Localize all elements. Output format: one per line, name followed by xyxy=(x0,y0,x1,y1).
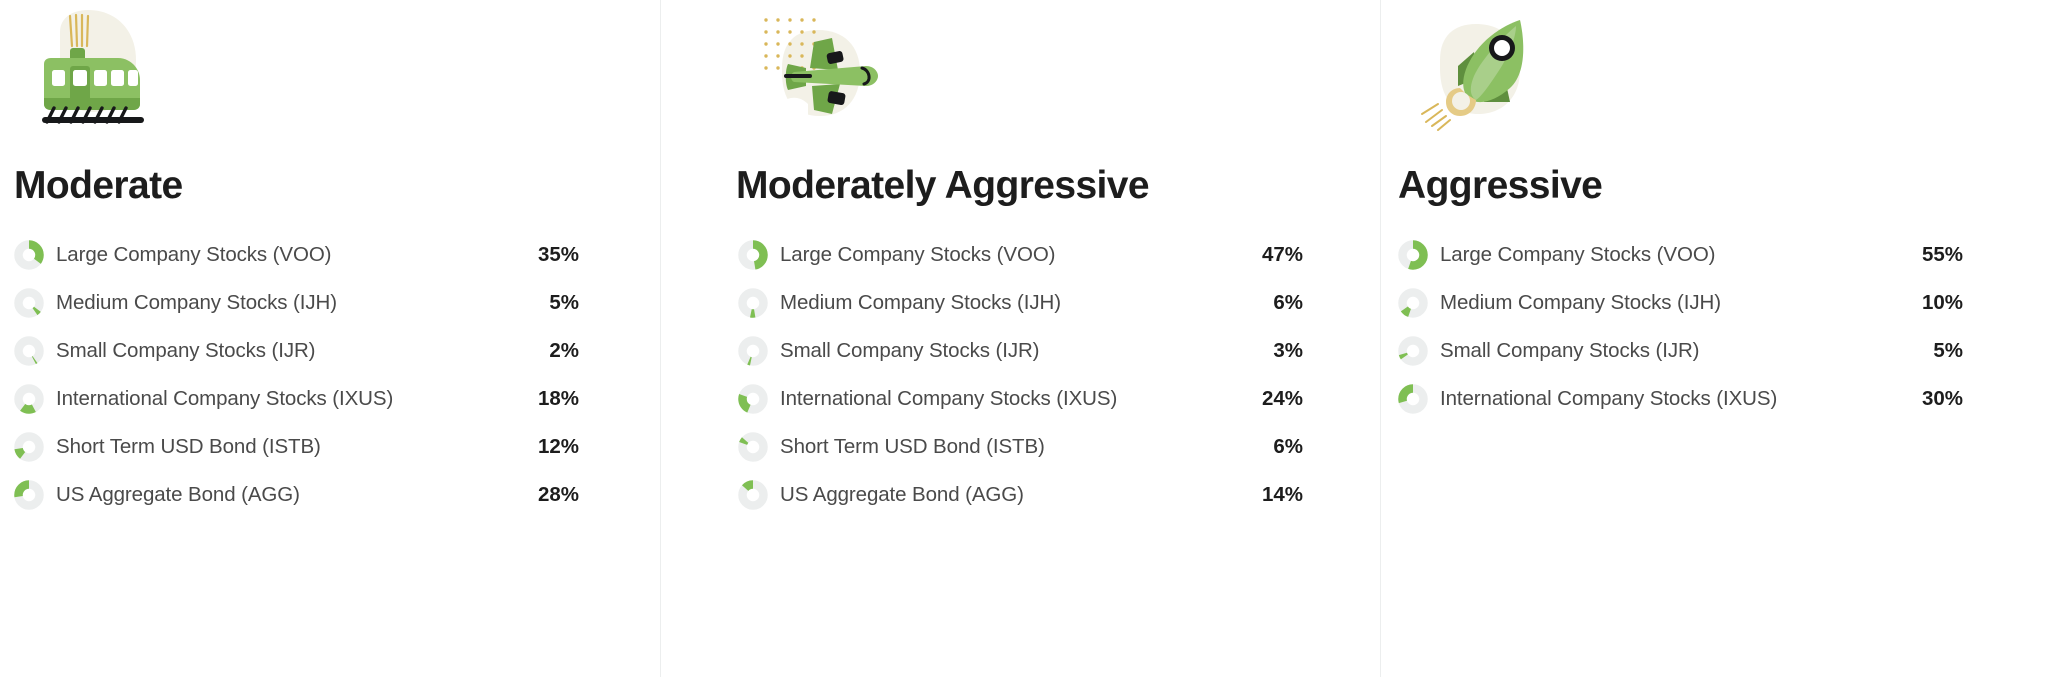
allocation-donut-icon xyxy=(14,336,44,366)
allocation-label: Medium Company Stocks (IJH) xyxy=(56,291,549,315)
allocation-percent: 35% xyxy=(538,243,579,267)
allocation-label: Short Term USD Bond (ISTB) xyxy=(56,435,538,459)
allocation-row: Short Term USD Bond (ISTB)12% xyxy=(14,423,579,471)
page-title-aggressive: Aggressive xyxy=(1398,166,2048,205)
allocation-label: Small Company Stocks (IJR) xyxy=(1440,339,1933,363)
rocket-icon xyxy=(1398,4,1548,144)
allocation-donut-icon xyxy=(738,480,768,510)
allocation-donut-icon xyxy=(738,432,768,462)
allocation-row: Large Company Stocks (VOO)55% xyxy=(1398,231,1963,279)
allocation-label: Large Company Stocks (VOO) xyxy=(780,243,1262,267)
allocation-percent: 55% xyxy=(1922,243,1963,267)
allocation-percent: 18% xyxy=(538,387,579,411)
allocation-label: Large Company Stocks (VOO) xyxy=(56,243,538,267)
allocation-row: Medium Company Stocks (IJH)6% xyxy=(738,279,1303,327)
allocation-donut-icon xyxy=(1398,336,1428,366)
page-title-moderate: Moderate xyxy=(14,166,660,205)
allocation-donut-icon xyxy=(738,384,768,414)
allocation-list-moderately-aggressive: Large Company Stocks (VOO)47%Medium Comp… xyxy=(738,231,1380,519)
allocation-donut-icon xyxy=(14,480,44,510)
allocation-donut-icon xyxy=(738,336,768,366)
allocation-label: Medium Company Stocks (IJH) xyxy=(1440,291,1922,315)
allocation-donut-icon xyxy=(738,240,768,270)
allocation-label: Medium Company Stocks (IJH) xyxy=(780,291,1273,315)
train-icon xyxy=(14,4,164,144)
allocation-percent: 2% xyxy=(549,339,579,363)
allocation-donut-icon xyxy=(1398,384,1428,414)
allocation-row: Large Company Stocks (VOO)35% xyxy=(14,231,579,279)
allocation-row: International Company Stocks (IXUS)30% xyxy=(1398,375,1963,423)
allocation-label: International Company Stocks (IXUS) xyxy=(780,387,1262,411)
allocation-percent: 5% xyxy=(1933,339,1963,363)
allocation-label: Small Company Stocks (IJR) xyxy=(56,339,549,363)
allocation-donut-icon xyxy=(1398,288,1428,318)
allocation-percent: 3% xyxy=(1273,339,1303,363)
allocation-row: Large Company Stocks (VOO)47% xyxy=(738,231,1303,279)
allocation-percent: 28% xyxy=(538,483,579,507)
allocation-label: US Aggregate Bond (AGG) xyxy=(780,483,1262,507)
allocation-row: International Company Stocks (IXUS)18% xyxy=(14,375,579,423)
risk-column-moderately-aggressive: Moderately Aggressive Large Company Stoc… xyxy=(660,0,1380,677)
allocation-donut-icon xyxy=(1398,240,1428,270)
airplane-icon xyxy=(738,4,888,144)
allocation-donut-icon xyxy=(14,384,44,414)
allocation-donut-icon xyxy=(14,432,44,462)
allocation-donut-icon xyxy=(14,240,44,270)
allocation-list-moderate: Large Company Stocks (VOO)35%Medium Comp… xyxy=(14,231,660,519)
allocation-percent: 30% xyxy=(1922,387,1963,411)
allocation-percent: 10% xyxy=(1922,291,1963,315)
allocation-row: Short Term USD Bond (ISTB)6% xyxy=(738,423,1303,471)
page-title-moderately-aggressive: Moderately Aggressive xyxy=(736,166,1380,205)
risk-column-aggressive: Aggressive Large Company Stocks (VOO)55%… xyxy=(1380,0,2048,677)
allocation-row: US Aggregate Bond (AGG)28% xyxy=(14,471,579,519)
allocation-row: US Aggregate Bond (AGG)14% xyxy=(738,471,1303,519)
allocation-row: Small Company Stocks (IJR)2% xyxy=(14,327,579,375)
allocation-row: Medium Company Stocks (IJH)5% xyxy=(14,279,579,327)
allocation-label: Short Term USD Bond (ISTB) xyxy=(780,435,1273,459)
allocation-label: US Aggregate Bond (AGG) xyxy=(56,483,538,507)
allocation-label: Large Company Stocks (VOO) xyxy=(1440,243,1922,267)
allocation-label: International Company Stocks (IXUS) xyxy=(56,387,538,411)
allocation-percent: 6% xyxy=(1273,291,1303,315)
risk-column-moderate: Moderate Large Company Stocks (VOO)35%Me… xyxy=(0,0,660,677)
allocation-row: Small Company Stocks (IJR)3% xyxy=(738,327,1303,375)
allocation-label: International Company Stocks (IXUS) xyxy=(1440,387,1922,411)
allocation-row: Small Company Stocks (IJR)5% xyxy=(1398,327,1963,375)
allocation-percent: 14% xyxy=(1262,483,1303,507)
allocation-percent: 47% xyxy=(1262,243,1303,267)
allocation-label: Small Company Stocks (IJR) xyxy=(780,339,1273,363)
risk-profile-board: Moderate Large Company Stocks (VOO)35%Me… xyxy=(0,0,2048,677)
allocation-percent: 5% xyxy=(549,291,579,315)
allocation-donut-icon xyxy=(14,288,44,318)
allocation-percent: 24% xyxy=(1262,387,1303,411)
allocation-percent: 12% xyxy=(538,435,579,459)
allocation-row: International Company Stocks (IXUS)24% xyxy=(738,375,1303,423)
allocation-percent: 6% xyxy=(1273,435,1303,459)
allocation-donut-icon xyxy=(738,288,768,318)
allocation-row: Medium Company Stocks (IJH)10% xyxy=(1398,279,1963,327)
allocation-list-aggressive: Large Company Stocks (VOO)55%Medium Comp… xyxy=(1398,231,2048,423)
